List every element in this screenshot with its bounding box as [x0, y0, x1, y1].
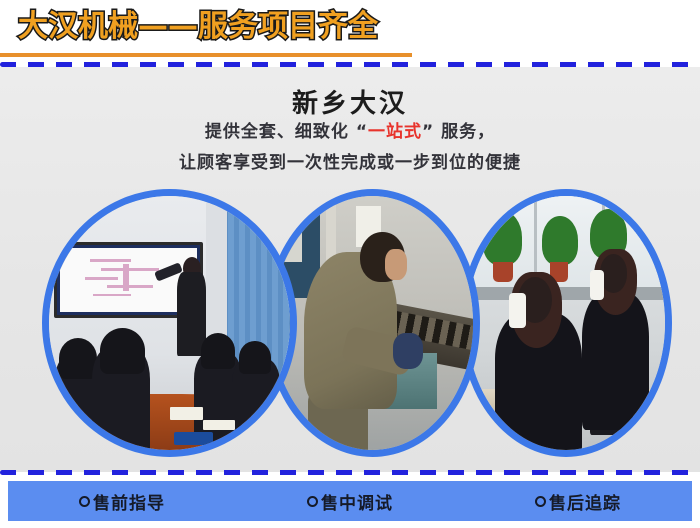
service-bar: 售前指导 售中调试 售后追踪 — [8, 481, 692, 521]
tagline-suffix: ” 服务， — [422, 122, 495, 142]
circle-bullet-icon — [307, 496, 318, 507]
dashed-separator-bottom — [0, 470, 700, 475]
slide-mark — [90, 259, 131, 262]
service-item-aftersale[interactable]: 售后追踪 — [464, 489, 692, 514]
machine-debugging-photo — [265, 189, 480, 457]
potted-plant — [483, 211, 523, 264]
circle-bullet-icon — [79, 496, 90, 507]
attendee-head — [201, 333, 235, 369]
training-session-photo-inner — [49, 196, 290, 450]
phone-handset — [509, 293, 527, 329]
notebook — [170, 407, 204, 420]
page-title: 大汉机械——服务项目齐全 — [18, 8, 378, 46]
slide-mark — [93, 294, 131, 297]
potted-plant — [542, 216, 578, 264]
training-session-photo — [42, 189, 297, 457]
tagline-highlight: 一站式 — [368, 122, 422, 142]
slide-mark — [101, 268, 159, 271]
wall-pillar — [206, 196, 228, 353]
attendee-head — [59, 338, 98, 379]
content-panel: 新乡大汉 提供全套、细致化 “一站式” 服务， 让顾客享受到一次性完成或一步到位… — [0, 67, 700, 472]
plant-pot — [493, 262, 513, 282]
circle-bullet-icon — [535, 496, 546, 507]
machine-debugging-photo-inner — [272, 196, 473, 450]
header-band: 大汉机械——服务项目齐全 — [0, 0, 700, 58]
title-underline-rule — [0, 53, 412, 57]
service-item-installation[interactable]: 售中调试 — [236, 489, 464, 514]
tagline-line-1: 提供全套、细致化 “一站式” 服务， — [0, 117, 700, 142]
notebook — [203, 420, 234, 430]
agent-head — [600, 254, 628, 292]
slide-mark — [107, 285, 154, 288]
tagline-line-2: 让顾客享受到一次性完成或一步到位的便捷 — [0, 148, 700, 173]
service-item-label: 售前指导 — [93, 489, 165, 514]
worker-glove — [393, 333, 423, 369]
slide-mark — [85, 277, 118, 280]
customer-service-photo — [460, 189, 672, 457]
table-card — [174, 432, 213, 445]
brand-heading: 新乡大汉 — [0, 83, 700, 120]
service-item-label: 售后追踪 — [549, 489, 621, 514]
tagline-prefix: 提供全套、细致化 “ — [205, 122, 368, 142]
phone-handset — [590, 270, 604, 300]
service-item-presale[interactable]: 售前指导 — [8, 489, 236, 514]
slide-mark — [123, 264, 128, 291]
customer-service-photo-inner — [467, 196, 665, 450]
attendee-head — [100, 328, 146, 374]
worker-face — [385, 249, 407, 279]
attendee-head — [239, 341, 270, 374]
service-item-label: 售中调试 — [321, 489, 393, 514]
